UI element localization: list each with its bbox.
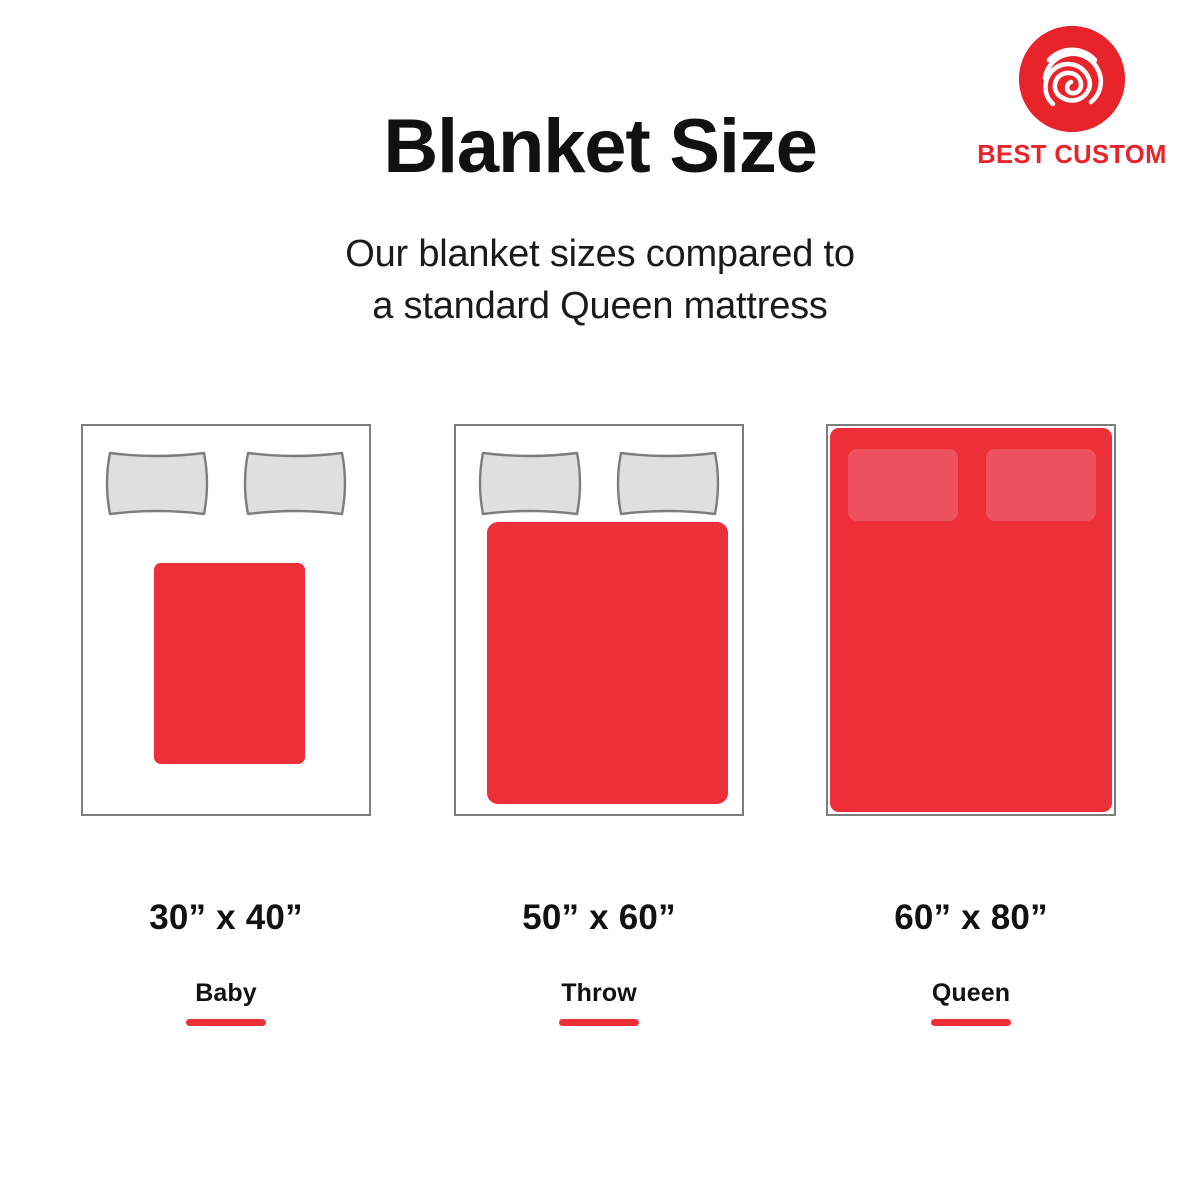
size-label-baby: 30” x 40” Baby — [81, 898, 371, 1026]
blanket-shape-throw — [487, 522, 728, 804]
blanket-shape-queen — [830, 428, 1112, 812]
bed-diagram-throw — [454, 424, 744, 816]
size-dimensions: 60” x 80” — [826, 898, 1116, 938]
size-name: Queen — [826, 978, 1116, 1008]
page-subtitle: Our blanket sizes compared to a standard… — [0, 228, 1200, 332]
size-dimensions: 30” x 40” — [81, 898, 371, 938]
pillow-left-icon — [476, 449, 584, 518]
pillow-left-icon — [848, 449, 958, 521]
subtitle-line-1: Our blanket sizes compared to — [0, 228, 1200, 280]
size-name: Baby — [81, 978, 371, 1008]
underline-rule — [931, 1019, 1011, 1026]
bed-comparison-row — [0, 424, 1200, 816]
pillow-right-icon — [986, 449, 1096, 521]
size-label-queen: 60” x 80” Queen — [826, 898, 1116, 1026]
pillow-right-icon — [241, 449, 349, 518]
pillow-right-icon — [614, 449, 722, 518]
size-name: Throw — [454, 978, 744, 1008]
size-labels-row: 30” x 40” Baby 50” x 60” Throw 60” x 80”… — [0, 898, 1200, 1038]
pillow-left-icon — [103, 449, 211, 518]
blanket-shape-baby — [154, 563, 305, 764]
bed-diagram-baby — [81, 424, 371, 816]
underline-rule — [186, 1019, 266, 1026]
page-title: Blanket Size — [0, 104, 1200, 190]
underline-rule — [559, 1019, 639, 1026]
size-label-throw: 50” x 60” Throw — [454, 898, 744, 1026]
size-dimensions: 50” x 60” — [454, 898, 744, 938]
infographic-canvas: BEST CUSTOM Blanket Size Our blanket siz… — [0, 0, 1200, 1200]
bed-diagram-queen — [826, 424, 1116, 816]
subtitle-line-2: a standard Queen mattress — [0, 280, 1200, 332]
